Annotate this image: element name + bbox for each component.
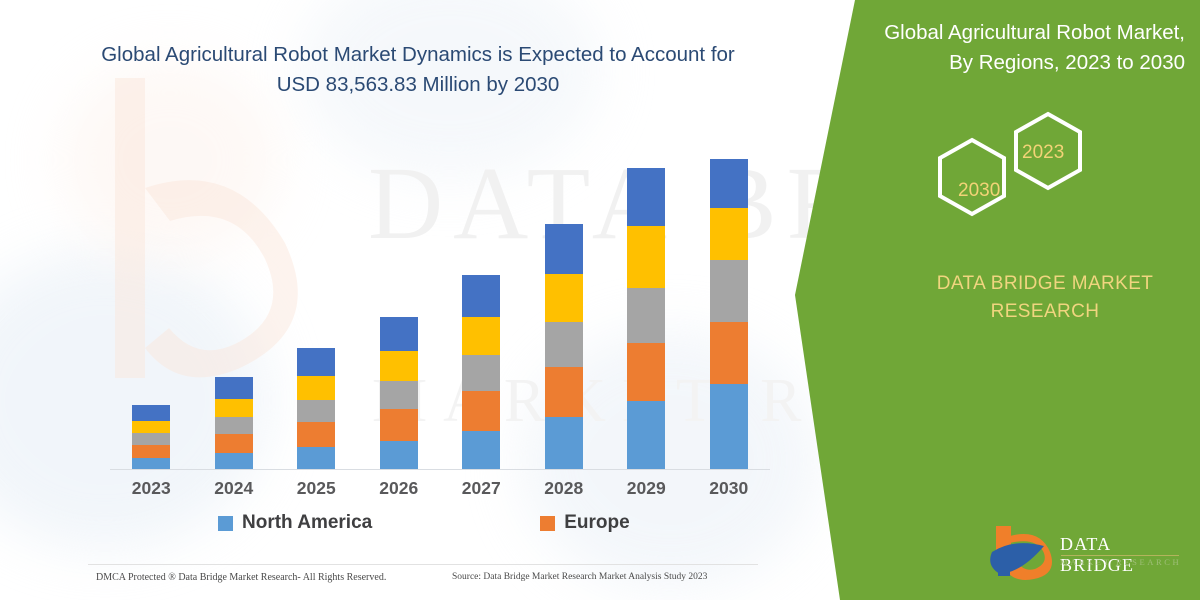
bar-segment xyxy=(710,260,748,322)
bar-segment xyxy=(297,376,335,400)
bar-segment xyxy=(545,417,583,469)
legend-label-north-america: North America xyxy=(242,512,372,534)
chart-legend: North America Europe xyxy=(110,512,770,534)
infographic-canvas: DATA BRIDGE MARKET RESEARCH Global Agric… xyxy=(0,0,1200,600)
logo-mark-icon xyxy=(988,524,1058,582)
bar-column-2027 xyxy=(440,140,523,469)
bar-segment xyxy=(462,275,500,317)
bar-segment xyxy=(215,453,253,469)
bar-segment xyxy=(132,445,170,458)
bar-column-2030 xyxy=(688,140,771,469)
bar-column-2023 xyxy=(110,140,193,469)
stacked-bar xyxy=(710,159,748,469)
bar-segment xyxy=(462,391,500,431)
bar-segment xyxy=(627,226,665,288)
bar-segment xyxy=(710,208,748,260)
bar-segment xyxy=(132,421,170,433)
hexagon-group xyxy=(930,110,1110,220)
bar-segment xyxy=(132,433,170,445)
legend-label-europe: Europe xyxy=(564,512,629,534)
bar-segment xyxy=(297,348,335,376)
bar-column-2028 xyxy=(523,140,606,469)
data-bridge-logo: DATA BRIDGE MARKET RESEARCH xyxy=(988,524,1188,586)
bar-segment xyxy=(132,458,170,469)
legend-item-europe[interactable]: Europe xyxy=(540,512,629,534)
bar-segment xyxy=(627,401,665,469)
x-axis-label-2025: 2025 xyxy=(275,478,358,499)
bar-column-2025 xyxy=(275,140,358,469)
hexagon-label-2030: 2030 xyxy=(958,180,1000,202)
x-axis-label-2026: 2026 xyxy=(358,478,441,499)
hexagon-2030-shape xyxy=(940,140,1004,214)
stacked-bar xyxy=(215,377,253,469)
bar-segment xyxy=(462,431,500,469)
bar-segment xyxy=(710,384,748,469)
stacked-bar xyxy=(545,224,583,469)
bar-segment xyxy=(462,355,500,391)
x-axis-label-2023: 2023 xyxy=(110,478,193,499)
bar-segment xyxy=(132,405,170,421)
bar-segment xyxy=(545,224,583,274)
legend-swatch-north-america xyxy=(218,516,233,531)
bar-segment xyxy=(215,377,253,399)
x-axis-label-2024: 2024 xyxy=(193,478,276,499)
chart-baseline xyxy=(110,469,770,470)
stacked-bar xyxy=(132,405,170,469)
panel-title: Global Agricultural Robot Market, By Reg… xyxy=(855,18,1185,78)
footer: DMCA Protected ® Data Bridge Market Rese… xyxy=(0,564,800,600)
bar-segment xyxy=(215,399,253,417)
bar-segment xyxy=(627,288,665,343)
stacked-bar xyxy=(297,348,335,469)
bar-segment xyxy=(545,322,583,367)
bar-segment xyxy=(462,317,500,355)
bar-segment xyxy=(545,367,583,417)
bar-segment xyxy=(215,417,253,434)
logo-rule xyxy=(1061,555,1179,556)
logo-tagline: MARKET RESEARCH xyxy=(1060,557,1181,567)
bar-segment xyxy=(710,159,748,208)
chart-bars xyxy=(110,140,770,469)
stacked-bar xyxy=(380,317,418,469)
stacked-bar-chart xyxy=(110,140,770,470)
bar-segment xyxy=(710,322,748,384)
bar-segment xyxy=(380,351,418,381)
x-axis-label-2027: 2027 xyxy=(440,478,523,499)
bar-segment xyxy=(380,409,418,441)
x-axis-label-2029: 2029 xyxy=(605,478,688,499)
stacked-bar xyxy=(462,275,500,469)
bar-segment xyxy=(380,381,418,409)
chart-x-axis: 20232024202520262027202820292030 xyxy=(110,478,770,499)
bar-segment xyxy=(215,434,253,453)
bar-column-2029 xyxy=(605,140,688,469)
hexagon-label-2023: 2023 xyxy=(1022,142,1064,164)
bar-segment xyxy=(297,422,335,447)
x-axis-label-2030: 2030 xyxy=(688,478,771,499)
bar-segment xyxy=(545,274,583,322)
bar-column-2024 xyxy=(193,140,276,469)
footer-copyright: DMCA Protected ® Data Bridge Market Rese… xyxy=(96,572,386,583)
bar-segment xyxy=(380,441,418,469)
bar-segment xyxy=(297,400,335,422)
legend-item-north-america[interactable]: North America xyxy=(218,512,372,534)
bar-segment xyxy=(627,168,665,226)
footer-source: Source: Data Bridge Market Research Mark… xyxy=(452,572,707,582)
bar-segment xyxy=(297,447,335,469)
footer-divider xyxy=(88,564,758,565)
brand-name: DATA BRIDGE MARKET RESEARCH xyxy=(900,270,1190,326)
legend-swatch-europe xyxy=(540,516,555,531)
bar-segment xyxy=(627,343,665,401)
bar-segment xyxy=(380,317,418,351)
bar-column-2026 xyxy=(358,140,441,469)
page-title: Global Agricultural Robot Market Dynamic… xyxy=(88,40,748,100)
stacked-bar xyxy=(627,168,665,469)
x-axis-label-2028: 2028 xyxy=(523,478,606,499)
